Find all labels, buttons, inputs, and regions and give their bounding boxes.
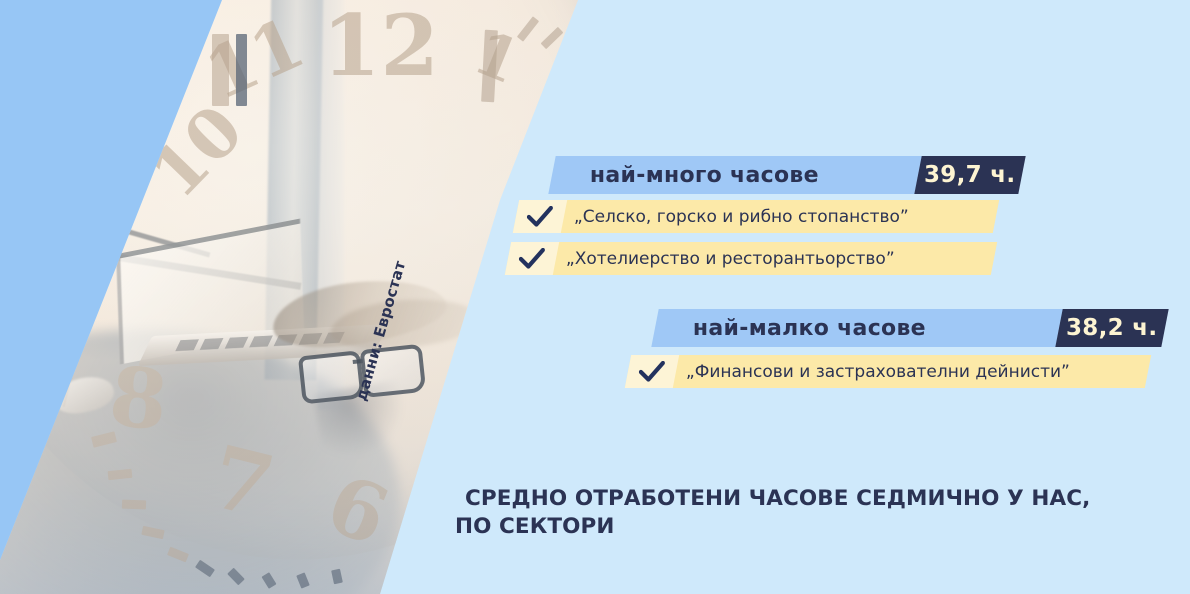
page-title-line-2: ПО СЕКТОРИ: [455, 513, 1095, 541]
clock-tick: [558, 46, 582, 66]
infographic-canvas: 12 1 11 10 9 8 7 6: [0, 0, 1190, 594]
list-item-label: „Хотелиерство и ресторантьорство”: [556, 249, 895, 269]
band-label-least-hours: най-малко часове: [655, 316, 926, 341]
list-item: „Финансови и застрахователни дейнисти”: [625, 355, 1151, 388]
check-icon: [505, 242, 559, 275]
band-label-most-hours: най-много часове: [552, 163, 819, 188]
badge-least-hours: 38,2 ч.: [1055, 309, 1168, 347]
page-title-line-1: СРЕДНО ОТРАБОТЕНИ ЧАСОВЕ СЕДМИЧНО У НАС,: [455, 485, 1095, 513]
list-item: „Хотелиерство и ресторантьорство”: [505, 242, 997, 275]
badge-value-most-hours: 39,7 ч.: [924, 162, 1015, 188]
page-title: СРЕДНО ОТРАБОТЕНИ ЧАСОВЕ СЕДМИЧНО У НАС,…: [455, 485, 1095, 542]
badge-value-least-hours: 38,2 ч.: [1066, 315, 1157, 341]
list-item-label: „Селско, горско и рибно стопанство”: [564, 207, 909, 227]
list-item-label: „Финансови и застрахователни дейнисти”: [676, 362, 1070, 382]
badge-most-hours: 39,7 ч.: [914, 156, 1025, 194]
list-item: „Селско, горско и рибно стопанство”: [513, 200, 999, 233]
check-icon: [625, 355, 679, 388]
band-most-hours: най-много часове: [548, 156, 921, 194]
check-icon: [513, 200, 567, 233]
band-least-hours: най-малко часове: [651, 309, 1062, 347]
